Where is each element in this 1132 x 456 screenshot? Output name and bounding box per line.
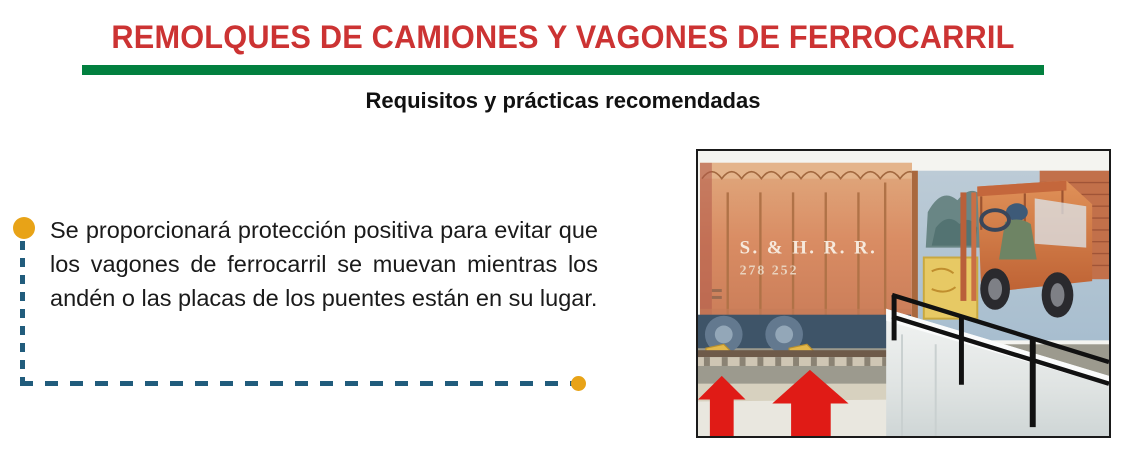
boxcar-reporting-mark-text: S. & H. R. R. bbox=[740, 238, 878, 259]
bullet-connector-horizontal-dashed-line bbox=[20, 381, 575, 386]
forklift-front-hub bbox=[988, 278, 1002, 300]
forklift-mast bbox=[960, 192, 966, 300]
illustration-svg: S. & H. R. R. 278 252 bbox=[698, 151, 1109, 436]
door-jamb bbox=[912, 171, 918, 341]
bullet-text: Se proporcionará protección positiva par… bbox=[50, 213, 598, 315]
rail bbox=[698, 350, 911, 357]
forklift-rear-hub bbox=[1051, 283, 1065, 307]
rail-ties bbox=[698, 357, 911, 366]
forklift-windshield bbox=[1035, 198, 1086, 247]
bullet-connector-end-dot-icon bbox=[571, 376, 586, 391]
boxcar-roof-band bbox=[700, 163, 912, 179]
bullet-marker-dot-icon bbox=[13, 217, 35, 239]
illustration-railcar-loading-dock: S. & H. R. R. 278 252 bbox=[696, 149, 1111, 438]
page-title: REMOLQUES DE CAMIONES Y VAGONES DE FERRO… bbox=[101, 17, 1025, 57]
page-subtitle: Requisitos y prácticas recomendadas bbox=[82, 86, 1044, 116]
boxcar-number-text: 278 252 bbox=[740, 262, 799, 277]
forklift-mast-2 bbox=[971, 192, 976, 300]
bullet-block: Se proporcionará protección positiva par… bbox=[0, 205, 600, 395]
bullet-connector-vertical-dashed-line bbox=[20, 241, 25, 386]
title-divider-rule bbox=[82, 65, 1044, 75]
